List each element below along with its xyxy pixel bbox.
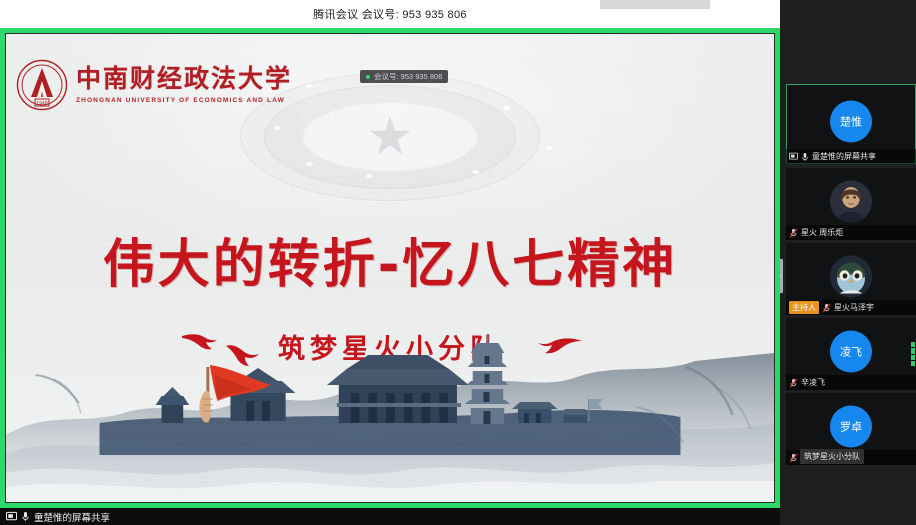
participant-tile-footer: 辛凌飞 xyxy=(786,375,916,390)
microphone-muted-icon xyxy=(789,228,798,238)
avatar: 罗卓 xyxy=(830,405,872,447)
participant-tile-footer: 星火 周乐炬 xyxy=(786,225,916,240)
window-title: 腾讯会议 会议号: 953 935 806 xyxy=(0,0,780,28)
university-logo: 1948 中南财经政法大学 ZHONGNAN UNIVERSITY OF ECO… xyxy=(16,59,292,111)
university-name-en: ZHONGNAN UNIVERSITY OF ECONOMICS AND LAW xyxy=(76,97,292,104)
participant-tile-xin-lingfei[interactable]: 凌飞 辛凌飞 xyxy=(786,318,916,390)
university-name-cn: 中南财经政法大学 xyxy=(76,66,292,92)
microphone-icon xyxy=(21,511,30,522)
participant-tile-screen-share[interactable]: 楚惟 童楚惟的屏幕共享 xyxy=(786,84,916,164)
share-pill-label: 会议号: 953 935 806 xyxy=(374,71,442,82)
microphone-muted-icon xyxy=(789,453,798,463)
avatar: 楚惟 xyxy=(830,100,872,142)
svg-text:1948: 1948 xyxy=(36,101,48,107)
microphone-muted-icon xyxy=(789,378,798,388)
participant-name: 星火马泽宇 xyxy=(834,302,874,313)
participant-tile-footer: 童楚惟的屏幕共享 xyxy=(786,149,916,164)
avatar: 凌飞 xyxy=(830,330,872,372)
host-badge: 主持人 xyxy=(789,301,819,314)
avatar-initials: 罗卓 xyxy=(840,418,862,434)
participant-name: 星火 周乐炬 xyxy=(801,227,843,238)
presentation-slide: 1948 中南财经政法大学 ZHONGNAN UNIVERSITY OF ECO… xyxy=(5,33,775,503)
screen-share-status-label: 童楚惟的屏幕共享 xyxy=(34,510,110,524)
avatar xyxy=(830,180,872,222)
participant-tile-footer: 主持人 星火马泽宇 xyxy=(786,300,916,315)
screen-share-meeting-id-pill: 会议号: 953 935 806 xyxy=(360,70,448,83)
microphone-muted-icon xyxy=(822,303,831,313)
participant-tile-zhou-lejiu[interactable]: 星火 周乐炬 xyxy=(786,168,916,240)
screen-share-frame: 1948 中南财经政法大学 ZHONGNAN UNIVERSITY OF ECO… xyxy=(0,28,780,508)
participant-name-tooltip: 筑梦星火小分队 xyxy=(800,449,864,464)
avatar-initials: 凌飞 xyxy=(840,343,862,359)
avatar-initials: 楚惟 xyxy=(840,113,862,129)
participant-tile-luo-zhuo[interactable]: 罗卓 演形星火小分队 筑梦星火小分队 xyxy=(786,393,916,465)
sharing-status-dot-icon xyxy=(366,75,370,79)
participant-name: 辛凌飞 xyxy=(801,377,825,388)
avatar xyxy=(830,255,872,297)
volume-meter xyxy=(911,342,915,366)
microphone-icon xyxy=(801,152,809,162)
participant-tile-host-ma-zeyu[interactable]: 主持人 星火马泽宇 xyxy=(786,243,916,315)
screen-share-icon xyxy=(789,152,798,161)
participant-name: 童楚惟的屏幕共享 xyxy=(812,151,876,162)
screen-share-icon xyxy=(6,511,17,522)
university-seal-icon: 1948 xyxy=(16,59,68,111)
screen-share-status-bar: 童楚惟的屏幕共享 xyxy=(0,508,780,525)
slide-title: 伟大的转折-忆八七精神 xyxy=(6,239,774,291)
window-title-bar: 腾讯会议 会议号: 953 935 806 xyxy=(0,0,916,28)
ink-wash-city-illustration xyxy=(6,327,774,502)
